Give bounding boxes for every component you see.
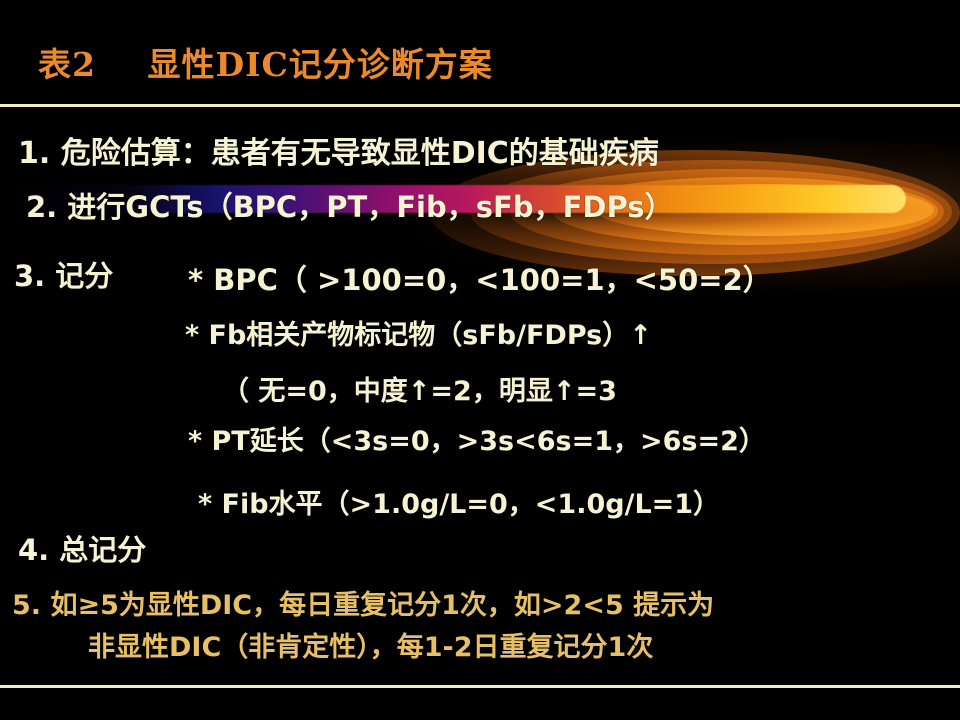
clipped-paren-artifact: ）	[893, 526, 907, 560]
clipped-paren-artifact: ）	[893, 253, 907, 287]
slide-title: 表2 显性DIC记分诊断方案	[38, 38, 493, 86]
list-item-3-sub-fb: * Fb相关产物标记物（sFb/FDPs）↑	[185, 313, 652, 352]
clipped-paren-glyph: ）	[893, 526, 907, 560]
clipped-paren-glyph: ）	[893, 253, 907, 287]
clipped-paren-glyph: ）	[893, 368, 907, 402]
divider-bottom	[0, 685, 960, 688]
slide-canvas: 表2 显性DIC记分诊断方案 1. 危险估算：患者有无导致显性DIC的基础疾病 …	[0, 0, 960, 720]
clipped-paren-glyph: ）	[893, 186, 907, 220]
list-item-3-label: 3. 记分	[14, 253, 113, 295]
list-item-1: 1. 危险估算：患者有无导致显性DIC的基础疾病	[18, 128, 659, 172]
list-item-3-sub-fib: * Fib水平（>1.0g/L=0，<1.0g/L=1）	[198, 482, 720, 521]
list-item-5-line-1: 5. 如≥5为显性DIC，每日重复记分1次，如>2<5 提示为	[12, 583, 714, 622]
list-item-5-line-2: 非显性DIC（非肯定性），每1-2日重复记分1次	[88, 625, 653, 664]
clipped-paren-artifact: ）	[893, 186, 907, 220]
list-item-2: 2. 进行GCTs（BPC，PT，Fib，sFb，FDPs）	[26, 184, 673, 226]
clipped-paren-artifact: ）	[893, 368, 907, 402]
list-item-3-sub-fb-scale: （ 无=0，中度↑=2，明显↑=3	[222, 369, 617, 408]
clipped-paren-artifact: ）	[893, 480, 907, 514]
list-item-3-sub-pt: * PT延长（<3s=0，>3s<6s=1，>6s=2）	[188, 419, 766, 458]
divider-top	[0, 104, 960, 107]
clipped-paren-glyph: ）	[893, 480, 907, 514]
list-item-3-sub-bpc: * BPC（ >100=0，<100=1，<50=2）	[188, 257, 772, 299]
clipped-paren-artifact: ）	[893, 416, 907, 450]
clipped-paren-glyph: ）	[893, 416, 907, 450]
list-item-4: 4. 总记分	[18, 527, 146, 569]
